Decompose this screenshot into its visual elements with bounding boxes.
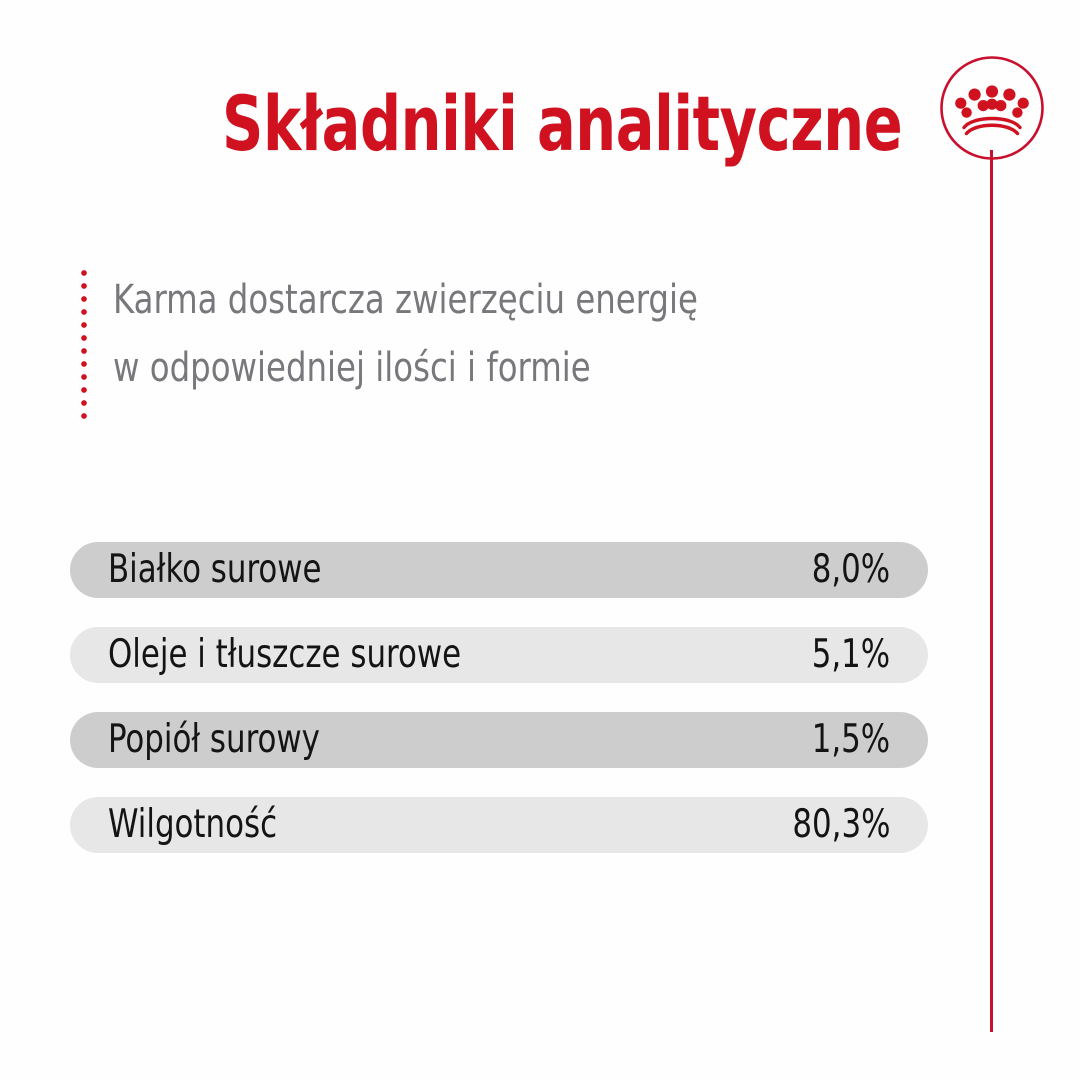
nutrient-label: Wilgotność <box>108 805 277 845</box>
dotted-vertical-rule-icon <box>81 270 87 422</box>
nutrient-value: 1,5% <box>812 720 890 760</box>
table-row: Popiół surowy 1,5% <box>70 712 928 768</box>
brand-stem-line <box>990 150 993 1032</box>
nutrient-value: 5,1% <box>812 635 890 675</box>
nutrient-label: Popiół surowy <box>108 720 320 760</box>
nutrient-label: Białko surowe <box>108 550 322 590</box>
page-title: Składniki analityczne <box>222 80 793 168</box>
table-row: Oleje i tłuszcze surowe 5,1% <box>70 627 928 683</box>
subtitle-text: Karma dostarcza zwierzęciu energię w odp… <box>113 266 743 402</box>
nutrient-value: 8,0% <box>812 550 890 590</box>
table-row: Wilgotność 80,3% <box>70 797 928 853</box>
analytical-constituents-infographic: Składniki analityczne Karma dostarcza zw… <box>0 0 1080 1080</box>
subtitle-block: Karma dostarcza zwierzęciu energię w odp… <box>72 266 832 426</box>
nutrient-value: 80,3% <box>792 805 890 845</box>
table-row: Białko surowe 8,0% <box>70 542 928 598</box>
analytical-constituents-table: Białko surowe 8,0% Oleje i tłuszcze suro… <box>70 542 928 853</box>
nutrient-label: Oleje i tłuszcze surowe <box>108 635 461 675</box>
royal-canin-crown-icon <box>939 55 1045 161</box>
